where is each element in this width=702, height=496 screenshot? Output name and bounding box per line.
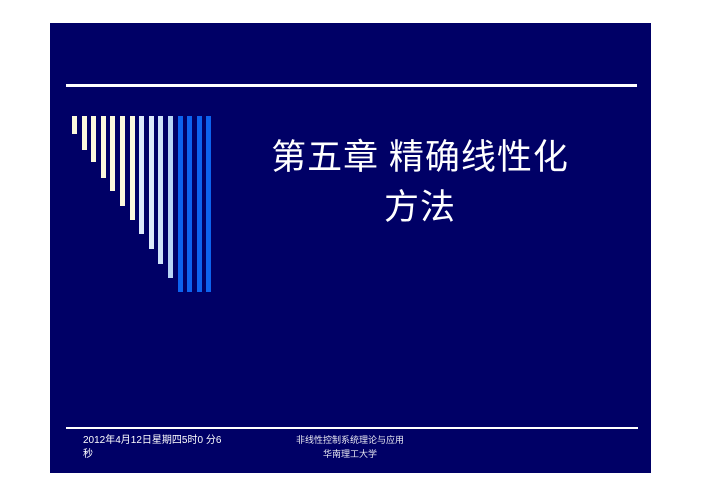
decoration-bar <box>197 116 202 292</box>
title-line-1: 第五章 精确线性化 <box>210 133 630 183</box>
decoration-bar <box>91 116 96 162</box>
decoration-bar <box>72 116 77 134</box>
footer-course-title: 非线性控制系统理论与应用 <box>230 434 470 448</box>
decoration-bar <box>110 116 115 191</box>
footer-datetime-line-1: 2012年4月12日星期四5时0 <box>83 435 203 446</box>
footer-divider-rule <box>66 427 638 429</box>
footer-institution: 华南理工大学 <box>230 448 470 462</box>
slide-page: 第五章 精确线性化 方法 2012年4月12日星期四5时0 分6秒 非线性控制系… <box>0 0 702 496</box>
top-divider-rule <box>66 84 637 87</box>
decoration-bar <box>101 116 106 178</box>
decoration-bar <box>149 116 154 249</box>
decoration-bar <box>139 116 144 234</box>
decoration-bar <box>120 116 125 206</box>
decoration-bar <box>178 116 183 292</box>
footer-course-info: 非线性控制系统理论与应用 华南理工大学 <box>230 434 470 461</box>
title-line-2: 方法 <box>210 183 630 233</box>
slide-title: 第五章 精确线性化 方法 <box>210 133 630 232</box>
decoration-bar <box>158 116 163 264</box>
slide-footer: 2012年4月12日星期四5时0 分6秒 非线性控制系统理论与应用 华南理工大学 <box>50 431 651 471</box>
decoration-bar <box>168 116 173 278</box>
footer-datetime: 2012年4月12日星期四5时0 分6秒 <box>83 434 223 461</box>
decoration-bar <box>187 116 192 292</box>
decoration-bar <box>82 116 87 150</box>
presentation-slide: 第五章 精确线性化 方法 2012年4月12日星期四5时0 分6秒 非线性控制系… <box>50 23 651 473</box>
decoration-bar <box>130 116 135 220</box>
